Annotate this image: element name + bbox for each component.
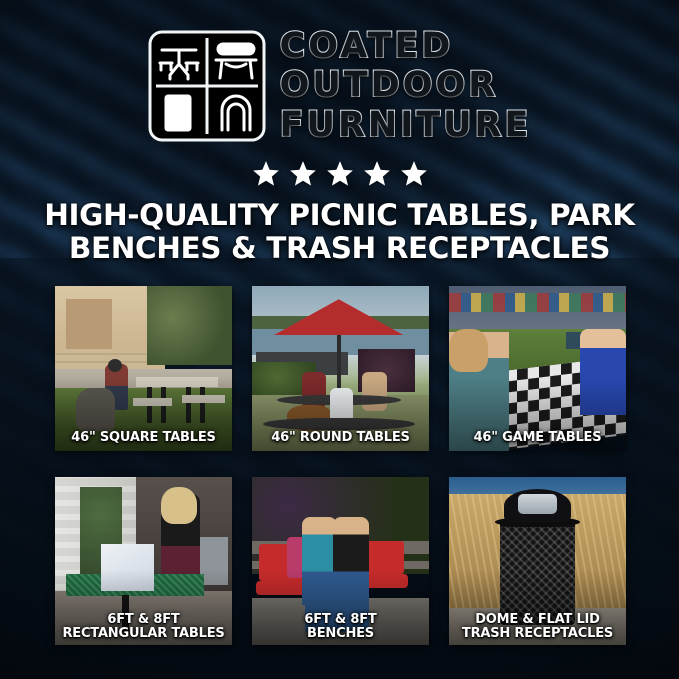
logo-mark-icons xyxy=(148,30,266,142)
caption-line-1: 6FT & 8FT xyxy=(55,613,232,627)
product-tile-square-tables[interactable]: 46" SQUARE TABLES xyxy=(55,286,232,451)
caption-line-2: RECTANGULAR TABLES xyxy=(55,627,232,641)
headline: HIGH-QUALITY PICNIC TABLES, PARK BENCHES… xyxy=(30,199,649,265)
star-icon xyxy=(400,160,428,188)
caption-line-1: 46" SQUARE TABLES xyxy=(55,431,232,445)
banner-root: COATED OUTDOOR FURNITURE HIGH-QUALITY PI… xyxy=(0,0,679,679)
product-tile-trash-receptacles[interactable]: DOME & FLAT LID TRASH RECEPTACLES xyxy=(449,477,626,645)
photo-gradient-overlay xyxy=(55,286,232,451)
product-tile-game-tables[interactable]: 46" GAME TABLES xyxy=(449,286,626,451)
star-icon xyxy=(252,160,280,188)
product-caption-round-tables: 46" ROUND TABLES xyxy=(252,431,429,445)
product-caption-rectangular-tables: 6FT & 8FT RECTANGULAR TABLES xyxy=(55,613,232,641)
brand-wordmark: COATED OUTDOOR FURNITURE xyxy=(280,28,532,143)
product-caption-benches: 6FT & 8FT BENCHES xyxy=(252,613,429,641)
headline-line-1: HIGH-QUALITY PICNIC TABLES, PARK xyxy=(44,198,634,232)
product-tile-round-tables[interactable]: 46" ROUND TABLES xyxy=(252,286,429,451)
brand-name-line-3: FURNITURE xyxy=(280,107,532,144)
product-caption-game-tables: 46" GAME TABLES xyxy=(449,431,626,445)
product-caption-square-tables: 46" SQUARE TABLES xyxy=(55,431,232,445)
photo-gradient-overlay xyxy=(449,286,626,451)
headline-line-2: BENCHES & TRASH RECEPTACLES xyxy=(30,232,649,265)
rating-stars xyxy=(0,157,679,191)
product-grid: 46" SQUARE TABLES 46" ROUND TABLES xyxy=(55,286,625,645)
caption-line-2: TRASH RECEPTACLES xyxy=(449,627,626,641)
caption-line-2: BENCHES xyxy=(252,627,429,641)
product-caption-trash-receptacles: DOME & FLAT LID TRASH RECEPTACLES xyxy=(449,613,626,641)
star-icon xyxy=(289,160,317,188)
product-tile-rectangular-tables[interactable]: 6FT & 8FT RECTANGULAR TABLES xyxy=(55,477,232,645)
brand-logo: COATED OUTDOOR FURNITURE xyxy=(0,26,679,146)
product-tile-benches[interactable]: 6FT & 8FT BENCHES xyxy=(252,477,429,645)
brand-name-line-1: COATED xyxy=(280,28,532,65)
star-icon xyxy=(326,160,354,188)
caption-line-1: DOME & FLAT LID xyxy=(449,613,626,627)
caption-line-1: 46" ROUND TABLES xyxy=(252,431,429,445)
brand-name-line-2: OUTDOOR xyxy=(280,67,532,104)
caption-line-1: 6FT & 8FT xyxy=(252,613,429,627)
star-icon xyxy=(363,160,391,188)
caption-line-1: 46" GAME TABLES xyxy=(449,431,626,445)
photo-gradient-overlay xyxy=(252,286,429,451)
